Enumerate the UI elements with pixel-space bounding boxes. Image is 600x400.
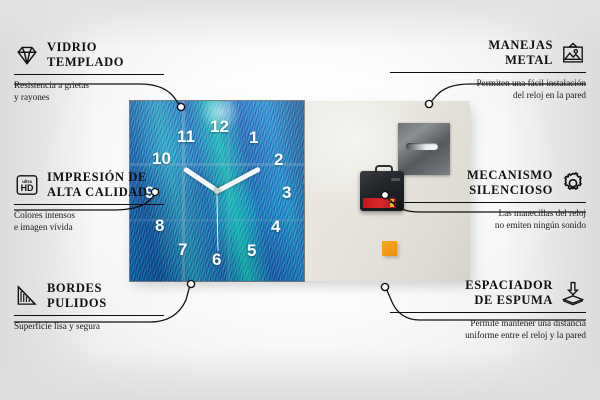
callout-impresion-alta-calidad: ultra HD IMPRESIÓN DEALTA CALIDAD Colore…: [14, 170, 210, 233]
clock-numeral-12: 12: [210, 118, 229, 135]
callout-divider: [390, 312, 586, 313]
callout-divider: [390, 72, 586, 73]
callout-bordes-pulidos: BORDESPULIDOS Superficie lisa y segura: [14, 281, 210, 332]
clock-numeral-11: 11: [177, 128, 195, 145]
hanger-slot: [406, 143, 438, 150]
callout-header: ultra HD IMPRESIÓN DEALTA CALIDAD: [14, 170, 210, 200]
callout-title: VIDRIOTEMPLADO: [47, 40, 124, 70]
clock-numeral-7: 7: [178, 241, 187, 258]
callout-manejas-metal: MANEJASMETAL Permiten una fácil instalac…: [390, 38, 586, 101]
clock-center-hub: [214, 188, 220, 194]
callout-description: Permiten una fácil instalación del reloj…: [390, 77, 586, 102]
callout-header: ESPACIADORDE ESPUMA: [390, 278, 586, 308]
hanging-frame-icon: [560, 40, 586, 66]
press-down-layers-icon: [560, 280, 586, 306]
callout-header: BORDESPULIDOS: [14, 281, 210, 311]
svg-text:HD: HD: [21, 183, 34, 193]
callout-description: Superficie lisa y segura: [14, 320, 210, 332]
clock-numeral-2: 2: [274, 151, 283, 168]
callout-title: BORDESPULIDOS: [47, 281, 107, 311]
callout-vidrio-templado: VIDRIOTEMPLADO Resistencia a grietas y r…: [14, 40, 210, 103]
callout-espaciador-espuma: ESPACIADORDE ESPUMA Permite mantener una…: [390, 278, 586, 341]
polished-edge-icon: [14, 283, 40, 309]
clock-numeral-5: 5: [247, 242, 256, 259]
diamond-icon: [14, 42, 40, 68]
clock-numeral-6: 6: [212, 251, 221, 268]
callout-description: Permite mantener una distancia uniforme …: [390, 317, 586, 342]
clock-numeral-3: 3: [282, 184, 291, 201]
clock-numeral-10: 10: [152, 150, 171, 167]
callout-description: Colores intensos e imagen vívida: [14, 209, 210, 234]
callout-header: MANEJASMETAL: [390, 38, 586, 68]
callout-description: Las manecillas del reloj no emiten ningú…: [390, 207, 586, 232]
gear-icon: [560, 170, 586, 196]
callout-description: Resistencia a grietas y rayones: [14, 79, 210, 104]
callout-header: VIDRIOTEMPLADO: [14, 40, 210, 70]
callout-header: MECANISMOSILENCIOSO: [390, 168, 586, 198]
callout-title: ESPACIADORDE ESPUMA: [465, 278, 553, 308]
callout-divider: [14, 204, 164, 205]
infographic-canvas: 12 1 2 3 4 5 6 7 8 9 10 11: [0, 0, 600, 400]
callout-divider: [390, 202, 586, 203]
foam-spacer: [382, 241, 397, 256]
clock-numeral-1: 1: [249, 129, 258, 146]
callout-title: IMPRESIÓN DEALTA CALIDAD: [47, 170, 148, 200]
callout-mecanismo-silencioso: MECANISMOSILENCIOSO Las manecillas del r…: [390, 168, 586, 231]
callout-divider: [14, 74, 164, 75]
callout-title: MANEJASMETAL: [488, 38, 553, 68]
clock-numeral-4: 4: [271, 218, 280, 235]
ultra-hd-badge-icon: ultra HD: [14, 172, 40, 198]
callout-title: MECANISMOSILENCIOSO: [467, 168, 553, 198]
callout-divider: [14, 315, 164, 316]
